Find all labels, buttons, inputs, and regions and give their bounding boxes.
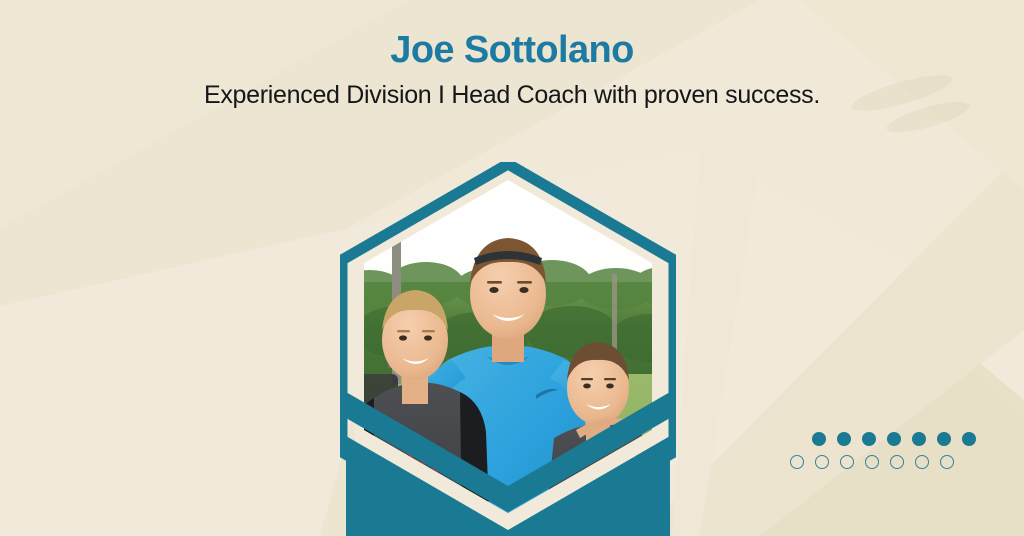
photo-left-eye-right — [424, 335, 432, 340]
dot-filled — [812, 432, 826, 446]
dot-filled — [912, 432, 926, 446]
photo-center-brow-right — [517, 281, 532, 284]
page-title: Joe Sottolano — [0, 28, 1024, 72]
dot-ring — [890, 455, 904, 469]
dot-ring — [840, 455, 854, 469]
banner-root: Joe Sottolano Experienced Division I Hea… — [0, 0, 1024, 536]
dot-ring — [790, 455, 804, 469]
dot-filled — [962, 432, 976, 446]
dot-row-filled — [812, 432, 976, 446]
photo-left-eye-left — [399, 335, 407, 340]
photo-right-eye-right — [606, 384, 614, 389]
dot-ring — [940, 455, 954, 469]
photo-right-eye-left — [583, 384, 591, 389]
page-subtitle: Experienced Division I Head Coach with p… — [0, 80, 1024, 110]
photo-right-brow-right — [604, 378, 616, 380]
chevron-decoration — [340, 392, 676, 536]
photo-right-brow-left — [581, 378, 593, 380]
photo-left-brow-left — [397, 330, 410, 332]
dot-grid — [790, 432, 976, 469]
dot-filled — [862, 432, 876, 446]
dot-ring — [915, 455, 929, 469]
dot-filled — [887, 432, 901, 446]
photo-center-brow-left — [487, 281, 502, 284]
photo-center-eye-right — [519, 287, 528, 293]
photo-center-eye-left — [489, 287, 498, 293]
dot-filled — [937, 432, 951, 446]
photo-left-brow-right — [422, 330, 435, 332]
header-block: Joe Sottolano Experienced Division I Hea… — [0, 28, 1024, 110]
dot-row-hollow — [790, 455, 976, 469]
dot-ring — [865, 455, 879, 469]
dot-filled — [837, 432, 851, 446]
dot-ring — [815, 455, 829, 469]
